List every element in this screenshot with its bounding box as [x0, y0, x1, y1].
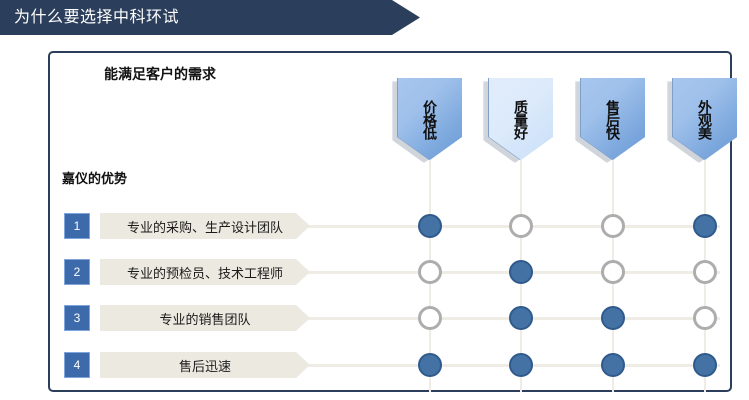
- row-number-4: 4: [64, 352, 90, 378]
- matrix-dot-r1-c4[interactable]: [693, 214, 717, 238]
- matrix-dot-r4-c4[interactable]: [693, 353, 717, 377]
- row-number-2: 2: [64, 259, 90, 285]
- matrix-dot-r2-c3[interactable]: [601, 260, 625, 284]
- slide-canvas: 为什么要选择中科环试 能满足客户的需求 嘉仪的优势 价格低 质量好 售后快 外观…: [0, 0, 749, 400]
- heading-customer-needs: 能满足客户的需求: [104, 64, 216, 84]
- row-label-3[interactable]: 专业的销售团队: [100, 305, 310, 331]
- matrix-dot-r2-c2[interactable]: [509, 260, 533, 284]
- row-label-1[interactable]: 专业的采购、生产设计团队: [100, 213, 310, 239]
- row-number-1: 1: [64, 213, 90, 239]
- matrix-dot-r1-c2[interactable]: [509, 214, 533, 238]
- matrix-dot-r4-c2[interactable]: [509, 353, 533, 377]
- matrix-dot-r1-c1[interactable]: [418, 214, 442, 238]
- matrix-dot-r2-c4[interactable]: [693, 260, 717, 284]
- slide-title-banner: 为什么要选择中科环试: [0, 0, 420, 35]
- matrix-dot-r3-c1[interactable]: [418, 306, 442, 330]
- matrix-dot-r4-c3[interactable]: [601, 353, 625, 377]
- matrix-dot-r2-c1[interactable]: [418, 260, 442, 284]
- heading-company-advantages: 嘉仪的优势: [62, 168, 127, 187]
- row-label-2[interactable]: 专业的预检员、技术工程师: [100, 259, 310, 285]
- row-number-label-3: 3: [74, 311, 81, 325]
- matrix-dot-r1-c3[interactable]: [601, 214, 625, 238]
- row-number-3: 3: [64, 305, 90, 331]
- row-number-label-1: 1: [74, 219, 81, 233]
- row-number-label-4: 4: [74, 358, 81, 372]
- row-label-text-3: 专业的销售团队: [151, 309, 258, 328]
- row-number-label-2: 2: [74, 265, 81, 279]
- matrix-dot-r4-c1[interactable]: [418, 353, 442, 377]
- matrix-dot-r3-c4[interactable]: [693, 306, 717, 330]
- page-title: 为什么要选择中科环试: [14, 0, 179, 35]
- row-label-text-1: 专业的采购、生产设计团队: [119, 217, 291, 236]
- matrix-dot-r3-c3[interactable]: [601, 306, 625, 330]
- row-label-text-2: 专业的预检员、技术工程师: [119, 263, 291, 282]
- row-label-text-4: 售后迅速: [171, 356, 239, 375]
- matrix-dot-r3-c2[interactable]: [509, 306, 533, 330]
- row-label-4[interactable]: 售后迅速: [100, 352, 310, 378]
